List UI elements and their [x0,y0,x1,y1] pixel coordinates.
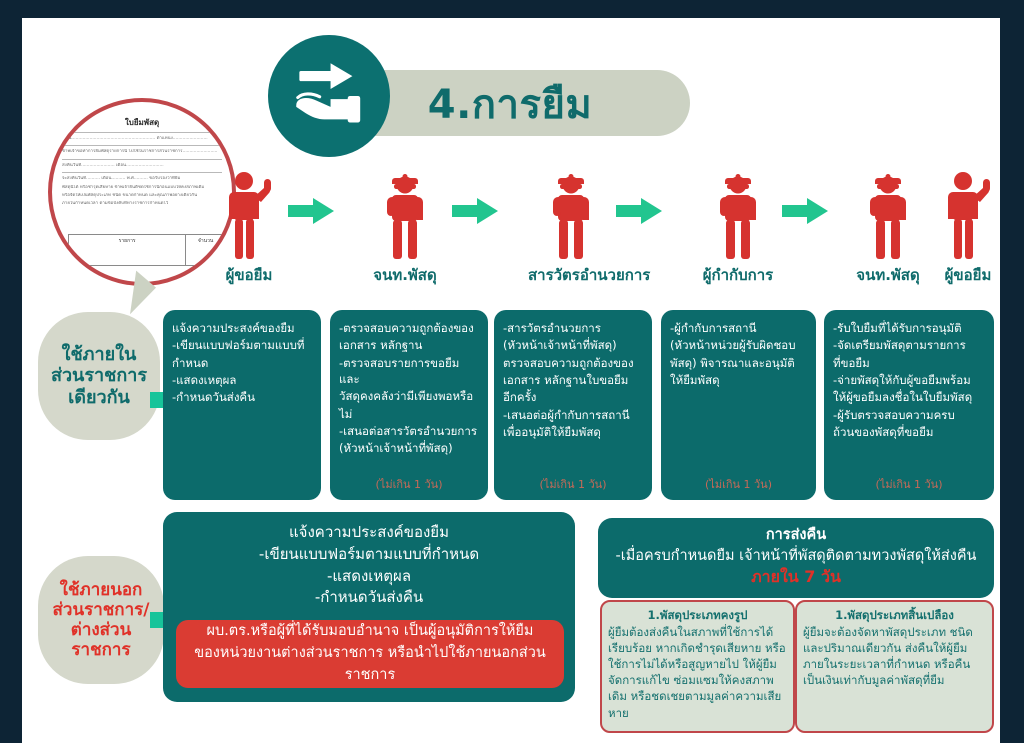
person-civilian-icon [925,168,1011,260]
step-2-line-3: -ตรวจสอบรายการขอยืมและ [339,355,479,388]
step-1-line-1: แจ้งความประสงค์ของยืม [172,320,312,336]
authority-note-box: ผบ.ตร.หรือผู้ที่ได้รับมอบอำนาจ เป็นผู้อน… [176,620,564,688]
step-2-line-6: -เสนอต่อสารวัตรอำนวยการ [339,423,479,439]
person-officer-icon [695,168,781,260]
step-5-line-5: ให้ผู้ขอยืมลงชื่อในใบยืมพัสดุ [833,389,985,405]
external-process-line-1: แจ้งความประสงค์ของยืม [163,522,575,544]
step-3-line-3: ตรวจสอบความถูกต้องของ [503,355,643,371]
form-column-item: รายการ [69,235,186,265]
return-card-consumable-body: ผู้ยืมจะต้องจัดหาพัสดุประเภท ชนิด และปริ… [803,624,986,688]
return-title: การส่งคืน [598,525,994,546]
actor-label-2: จนท.พัสดุ [362,263,448,287]
arrow-right-icon [452,196,498,226]
step-2-line-5: ไม่ [339,406,479,422]
step-3-line-5: อีกครั้ง [503,389,643,405]
form-line-1: เรียน...................................… [62,136,222,142]
step-1-line-2: -เขียนแบบฟอร์มตามแบบที่ [172,337,312,353]
step-5-line-2: -จัดเตรียมพัสดุตามรายการ [833,337,985,353]
authority-note-line-2: ของหน่วยงานต่างส่วนราชการ หรือนำไปใช้ภาย… [182,643,558,687]
authority-note-line-1: ผบ.ตร.หรือผู้ที่ได้รับมอบอำนาจ เป็นผู้อน… [207,621,534,643]
step-2-line-2: เอกสาร หลักฐาน [339,337,479,353]
step-4-line-1: -ผู้กำกับการสถานี [670,320,807,336]
step-3-line-7: เพื่ออนุมัติให้ยืมพัสดุ [503,424,643,440]
form-line-2: ข้าพเจ้าขอทำการยืมพัสดุรายการนี้ ไปใช้ใน… [62,149,222,155]
step-3-line-6: -เสนอต่อผู้กำกับการสถานี [503,407,643,423]
external-process-line-4: -กำหนดวันส่งคืน [163,587,575,609]
return-card-durable: 1.พัสดุประเภทคงรูป ผู้ยืมต้องส่งคืนในสภา… [600,600,795,733]
step-1-line-3: กำหนด [172,355,312,371]
external-process-line-3: -แสดงเหตุผล [163,566,575,588]
actor-2: จนท.พัสดุ [362,168,448,287]
step-2-duration: (ไม่เกิน 1 วัน) [330,477,488,493]
arrow-right-icon [782,196,828,226]
actor-label-6: ผู้ขอยืม [925,263,1011,287]
arrow-right-icon [616,196,662,226]
category-internal-label: ใช้ภายในส่วนราชการเดียวกัน [38,312,160,440]
step-2-line-4: วัสดุคงคลังว่ามีเพียงพอหรือ [339,388,479,404]
step-2-line-1: -ตรวจสอบความถูกต้องของ [339,320,479,336]
step-5-line-7: ถ้วนของพัสดุที่ขอยืม [833,424,985,440]
step-box-3: -สารวัตรอำนวยการ(หัวหน้าเจ้าหน้าที่พัสดุ… [494,310,652,500]
arrow-right-icon [288,196,334,226]
step-5-line-3: ที่ขอยืม [833,355,985,371]
step-5-duration: (ไม่เกิน 1 วัน) [824,477,994,493]
return-card-consumable-heading: 1.พัสดุประเภทสิ้นเปลือง [803,607,986,623]
step-box-2: -ตรวจสอบความถูกต้องของ เอกสาร หลักฐาน-ตร… [330,310,488,500]
return-card-consumable: 1.พัสดุประเภทสิ้นเปลือง ผู้ยืมจะต้องจัดห… [795,600,994,733]
step-5-line-4: -จ่ายพัสดุให้กับผู้ขอยืมพร้อม [833,372,985,388]
step-4-line-2: (หัวหน้าหน่วยผู้รับผิดชอบ [670,337,807,353]
category-label-text-1: ใช้ภายนอกส่วนราชการ/ต่างส่วนราชการ [53,580,150,660]
return-card-durable-body: ผู้ยืมต้องส่งคืนในสภาพที่ใช้การได้เรียบร… [608,624,787,721]
step-box-4: -ผู้กำกับการสถานี(หัวหน้าหน่วยผู้รับผิดช… [661,310,816,500]
step-5-line-1: -รับใบยืมที่ได้รับการอนุมัติ [833,320,985,336]
actor-label-1: ผู้ขอยืม [206,263,292,287]
category-label-text-0: ใช้ภายในส่วนราชการเดียวกัน [51,344,147,408]
step-4-duration: (ไม่เกิน 1 วัน) [661,477,816,493]
return-card-durable-heading: 1.พัสดุประเภทคงรูป [608,607,787,623]
step-3-line-2: (หัวหน้าเจ้าหน้าที่พัสดุ) [503,337,643,353]
step-box-5: -รับใบยืมที่ได้รับการอนุมัติ-จัดเตรียมพั… [824,310,994,500]
actor-6: ผู้ขอยืม [925,168,1011,287]
form-line-7: ภายในกำหนดเวลา ตามข้อบังคับที่ทางราชการก… [62,201,222,207]
actor-5: จนท.พัสดุ [845,168,931,287]
actor-3: สารวัตรอำนวยการ [528,168,614,287]
person-officer-icon [362,168,448,260]
step-box-1: แจ้งความประสงค์ของยืม-เขียนแบบฟอร์มตามแบ… [163,310,321,500]
form-line-4: จะส่งคืนวันที่.......... เดือน..........… [62,176,222,182]
actor-label-3: สารวัตรอำนวยการ [528,263,614,287]
actor-1: ผู้ขอยืม [206,168,292,287]
step-1-line-4: -แสดงเหตุผล [172,372,312,388]
form-line-6: หรือจัดให้เป็นพัสดุประเภท ชนิด ขนาดกำหนด… [62,193,222,199]
person-officer-icon [528,168,614,260]
step-3-duration: (ไม่เกิน 1 วัน) [494,477,652,493]
step-2-line-7: (หัวหน้าเจ้าหน้าที่พัสดุ) [339,440,479,456]
form-line-3: ส่งคืนวันที่........................ เดื… [62,163,222,169]
return-line: -เมื่อครบกำหนดยืม เจ้าหน้าที่พัสดุติดตาม… [598,546,994,567]
actor-label-4: ผู้กำกับการ [695,263,781,287]
hand-borrow-icon [268,35,390,157]
form-line-5: พัสดุนี้ได้ หรือชำรุดเสียหาย ข้าพเจ้ายิน… [62,185,222,191]
return-deadline: ภายใน 7 วัน [598,566,994,589]
category-external-label: ใช้ภายนอกส่วนราชการ/ต่างส่วนราชการ [38,556,164,684]
person-officer-icon [845,168,931,260]
actor-label-5: จนท.พัสดุ [845,263,931,287]
external-process-line-2: -เขียนแบบฟอร์มตามแบบที่กำหนด [163,544,575,566]
step-5-line-6: -ผู้รับตรวจสอบความครบ [833,407,985,423]
person-civilian-icon [206,168,292,260]
actor-4: ผู้กำกับการ [695,168,781,287]
step-3-line-4: เอกสาร หลักฐานใบขอยืม [503,372,643,388]
form-table: รายการ จำนวน [68,234,226,266]
form-title: ใบยืมพัสดุ [58,116,226,129]
step-1-line-5: -กำหนดวันส่งคืน [172,389,312,405]
step-3-line-1: -สารวัตรอำนวยการ [503,320,643,336]
return-process-box: การส่งคืน -เมื่อครบกำหนดยืม เจ้าหน้าที่พ… [598,518,994,598]
infographic-canvas: 4.การยืม ใบยืมพัสดุ เรียน...............… [0,0,1024,743]
step-4-line-4: ให้ยืมพัสดุ [670,372,807,388]
step-4-line-3: พัสดุ) พิจารณาและอนุมัติ [670,355,807,371]
